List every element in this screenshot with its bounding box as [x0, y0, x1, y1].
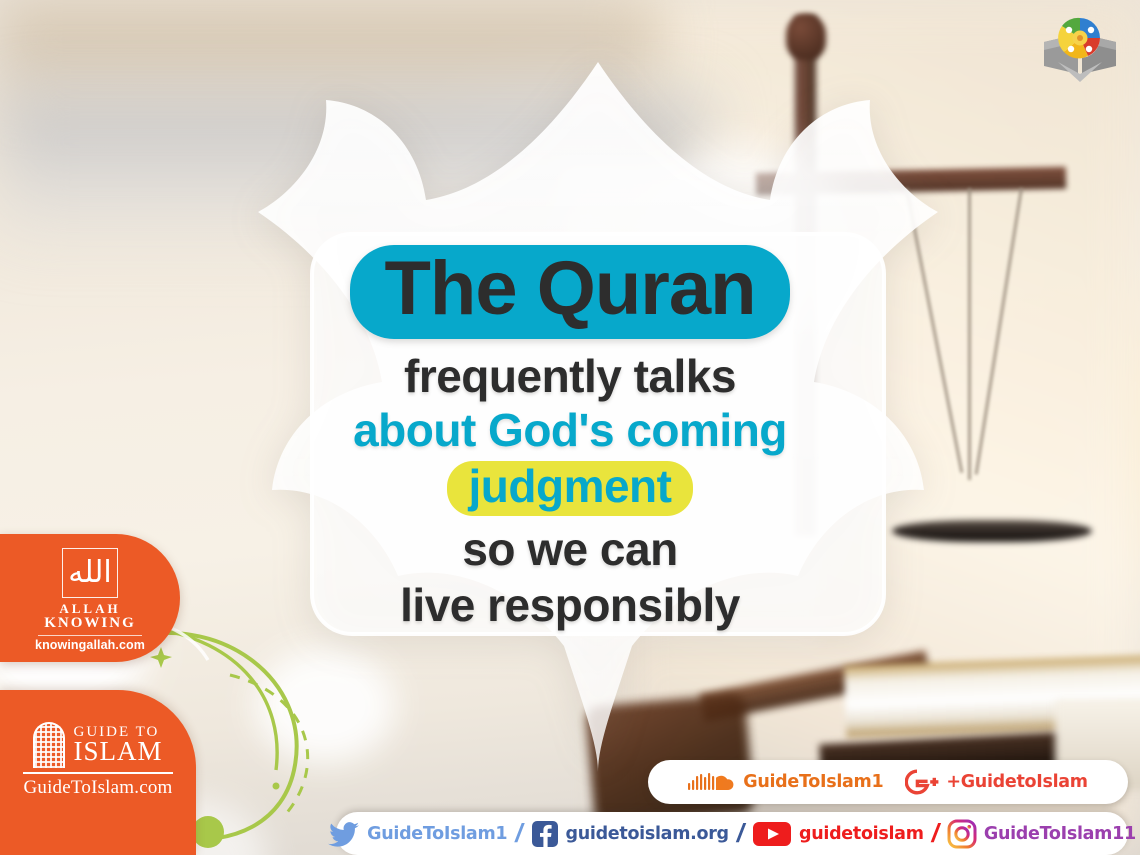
knowing-allah-logo[interactable]: الله ALLAH KNOWING knowingallah.com [0, 534, 180, 662]
soundcloud-label: GuideToIslam1 [743, 772, 883, 792]
social-bar-bottom: GuideToIslam1 / guidetoislam.org / guide… [336, 812, 1128, 855]
poster-canvas: The Quran frequently talks about God's c… [0, 0, 1140, 855]
soundcloud-icon [688, 770, 736, 794]
knowing-allah-url[interactable]: knowingallah.com [0, 638, 180, 652]
youtube-icon [752, 820, 792, 848]
youtube-label: guidetoislam [799, 824, 924, 844]
divider [23, 772, 173, 774]
separator: / [737, 818, 744, 849]
guide-to-islam-line2: ISLAM [73, 739, 162, 764]
guide-to-islam-logo[interactable]: GUIDE TO ISLAM GuideToIslam.com [0, 690, 196, 855]
mosque-arch-icon [33, 722, 65, 768]
quran-title-pill: The Quran [350, 245, 789, 339]
facebook-icon [531, 820, 559, 848]
instagram-icon [947, 819, 977, 849]
allah-calligraphy-icon: الله [62, 548, 118, 598]
judgment-highlight-pill: judgment [447, 461, 694, 516]
instagram-label: GuideToIslam11 [984, 824, 1136, 844]
divider [38, 635, 142, 636]
facebook-link[interactable]: guidetoislam.org [531, 820, 729, 848]
headline-line-5-text: so we can [462, 526, 677, 572]
twitter-link[interactable]: GuideToIslam1 [328, 821, 507, 847]
guide-to-islam-url[interactable]: GuideToIslam.com [0, 777, 196, 799]
headline-line-3: about God's coming [0, 405, 1140, 453]
separator: / [515, 818, 522, 849]
separator: / [932, 818, 939, 849]
twitter-icon [328, 821, 360, 847]
twitter-label: GuideToIslam1 [367, 824, 507, 844]
headline-line-3-text: about God's coming [353, 407, 787, 453]
headline-line-4: judgment [0, 459, 1140, 516]
headline-line-2-text: frequently talks [404, 353, 736, 399]
facebook-label: guidetoislam.org [566, 824, 729, 844]
google-plus-label: +GuidetoIslam [946, 772, 1087, 792]
youtube-link[interactable]: guidetoislam [752, 820, 924, 848]
social-bar-top: GuideToIslam1 +GuidetoIslam [648, 760, 1128, 804]
headline-line-6-text: live responsibly [400, 582, 740, 628]
soundcloud-link[interactable]: GuideToIslam1 [688, 770, 883, 794]
instagram-link[interactable]: GuideToIslam11 [947, 819, 1136, 849]
headline-line-title: The Quran [0, 245, 1140, 341]
headline-line-2: frequently talks [0, 347, 1140, 399]
google-plus-link[interactable]: +GuidetoIslam [905, 769, 1087, 795]
globe-book-logo-icon [1038, 12, 1122, 84]
scales-of-justice-knob [786, 14, 826, 60]
google-plus-icon [905, 769, 939, 795]
knowing-allah-line2: KNOWING [0, 615, 180, 632]
